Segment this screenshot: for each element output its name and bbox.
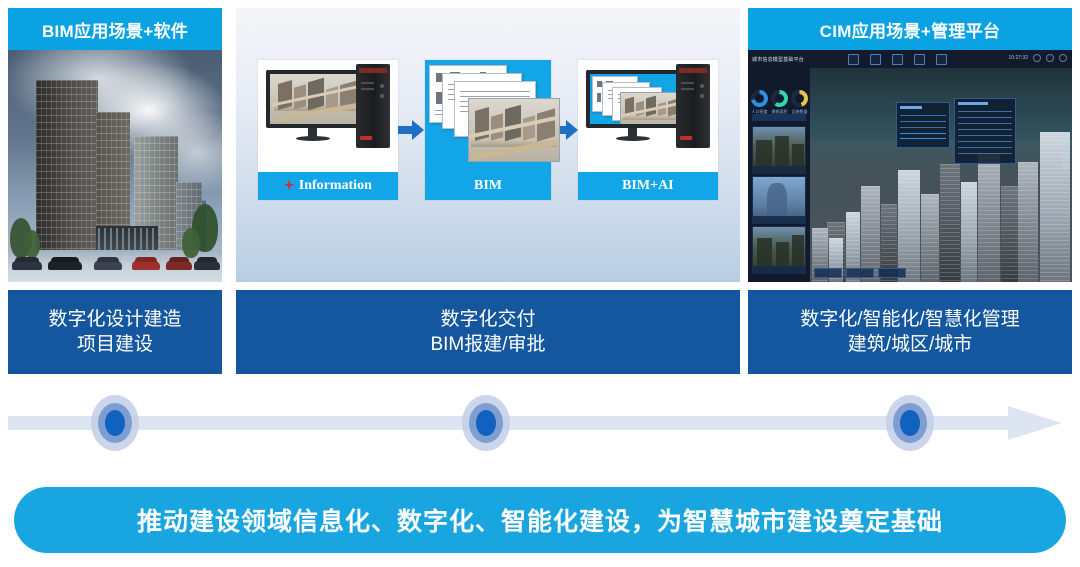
city-button[interactable]	[846, 268, 874, 278]
bottom-banner-text: 推动建设领域信息化、数字化、智能化建设，为智慧城市建设奠定基础	[137, 502, 943, 538]
workflow-step-2-text: BIM	[474, 178, 502, 194]
gauge: 建筑面积	[771, 90, 788, 107]
car-icon	[94, 261, 122, 270]
monitor-icon	[266, 70, 366, 142]
dashboard-clock: 10:27:32	[1009, 55, 1028, 61]
column-bim-caption: 数字化设计建造 项目建设	[8, 290, 222, 374]
bim-model-render	[468, 98, 560, 162]
office-tower-main	[36, 80, 98, 258]
workflow-row: + Information	[258, 60, 718, 200]
skyscraper	[978, 154, 1000, 282]
bim-workflow-diagram: + Information	[236, 8, 740, 282]
bell-icon[interactable]	[1046, 54, 1054, 62]
desktop-tower-icon	[676, 64, 710, 148]
timeline-node	[882, 392, 938, 454]
cim-platform-dashboard: 城市信息模型基础平台 10:27:32	[748, 50, 1072, 282]
workflow-step-3-image	[578, 60, 718, 172]
dashboard-sidebar: 人口密度 建筑面积 设施数量	[748, 68, 811, 282]
caption-line: 建筑/城区/城市	[800, 332, 1020, 357]
monitor-base	[616, 136, 650, 141]
column-delivery-caption: 数字化交付 BIM报建/审批	[236, 290, 740, 374]
dashboard-title: 城市信息模型基础平台	[752, 56, 804, 63]
timeline-arrow-right-icon	[1008, 406, 1062, 440]
workflow-step-3-label: BIM+AI	[578, 172, 718, 200]
caption-line: BIM报建/审批	[430, 332, 545, 357]
city-3d-view[interactable]	[810, 68, 1072, 282]
workflow-step-bim-ai: BIM+AI	[578, 60, 718, 200]
monitor-base	[296, 136, 330, 141]
nav-icon[interactable]	[870, 54, 881, 65]
plus-icon: +	[284, 177, 293, 195]
skyscraper	[961, 182, 977, 282]
layers-icon[interactable]	[1062, 152, 1069, 159]
monitor-icon	[586, 70, 686, 142]
building-thumbnail[interactable]	[752, 176, 806, 224]
workflow-step-2-label: BIM	[425, 172, 552, 200]
workflow-step-1-image	[258, 60, 398, 172]
car-icon	[132, 261, 160, 270]
column-cim-header: CIM应用场景+管理平台	[748, 8, 1072, 50]
settings-icon[interactable]	[1033, 54, 1041, 62]
workflow-step-bim: BIM	[425, 60, 552, 200]
timeline	[0, 392, 1080, 454]
monitor-screen	[586, 70, 686, 128]
column-cim-caption: 数字化/智能化/智慧化管理 建筑/城区/城市	[748, 290, 1072, 374]
dashboard-status: 10:27:32	[1009, 54, 1067, 62]
infographic-stage: BIM应用场景+软件 数字化设计建造 项目建设	[0, 0, 1080, 567]
sidebar-section-header	[752, 114, 806, 121]
column-bim-header: BIM应用场景+软件	[8, 8, 222, 50]
document-stack	[425, 60, 552, 172]
timeline-node	[458, 392, 514, 454]
timeline-node	[87, 392, 143, 454]
car-icon	[12, 261, 42, 270]
city-action-buttons[interactable]	[814, 268, 906, 278]
zoom-out-icon[interactable]	[1062, 142, 1069, 149]
skyscraper	[1001, 186, 1018, 282]
building-render-photo	[8, 50, 222, 282]
caption-line: 数字化交付	[430, 307, 545, 332]
car-icon	[48, 261, 82, 270]
building-thumbnail[interactable]	[752, 226, 806, 274]
car-icon	[194, 261, 220, 270]
workflow-step-1-label: + Information	[258, 172, 398, 200]
car-icon	[166, 261, 192, 270]
caption-line: 数字化设计建造	[48, 307, 181, 332]
city-button[interactable]	[814, 268, 842, 278]
bim-model-render	[270, 74, 362, 124]
dashboard-nav[interactable]	[848, 54, 947, 65]
workflow-step-1-text: Information	[299, 178, 372, 194]
city-button[interactable]	[878, 268, 906, 278]
nav-icon[interactable]	[936, 54, 947, 65]
workflow-step-2-image	[425, 60, 552, 172]
nav-icon[interactable]	[892, 54, 903, 65]
skyscraper	[1018, 162, 1038, 282]
gauge: 人口密度	[751, 90, 768, 107]
building-thumbnail[interactable]	[752, 126, 806, 174]
nav-icon[interactable]	[848, 54, 859, 65]
info-popup[interactable]	[896, 102, 950, 148]
workflow-step-3-text: BIM+AI	[622, 178, 674, 194]
monitor-screen	[266, 70, 366, 128]
map-tools[interactable]	[1062, 132, 1069, 169]
workflow-arrow-1	[398, 60, 424, 200]
user-icon[interactable]	[1059, 54, 1067, 62]
bim-model-render	[620, 92, 682, 128]
skyscraper	[940, 164, 960, 282]
dashboard-topbar: 城市信息模型基础平台 10:27:32	[748, 50, 1072, 68]
desktop-tower-icon	[356, 64, 390, 148]
workflow-step-information: + Information	[258, 60, 398, 200]
skyscraper	[921, 194, 939, 282]
gauge-group: 人口密度 建筑面积 设施数量	[751, 90, 808, 107]
tree-icon	[182, 228, 200, 258]
skyscraper	[898, 170, 920, 282]
tree-icon	[24, 230, 40, 258]
gauge: 设施数量	[791, 90, 808, 107]
compass-icon[interactable]	[1062, 162, 1069, 169]
bottom-banner: 推动建设领域信息化、数字化、智能化建设，为智慧城市建设奠定基础	[14, 487, 1066, 553]
caption-line: 数字化/智能化/智慧化管理	[800, 307, 1020, 332]
nav-icon[interactable]	[914, 54, 925, 65]
info-popup[interactable]	[954, 98, 1016, 164]
caption-line: 项目建设	[48, 332, 181, 357]
zoom-in-icon[interactable]	[1062, 132, 1069, 139]
dashboard-window: 城市信息模型基础平台 10:27:32	[748, 50, 1072, 282]
